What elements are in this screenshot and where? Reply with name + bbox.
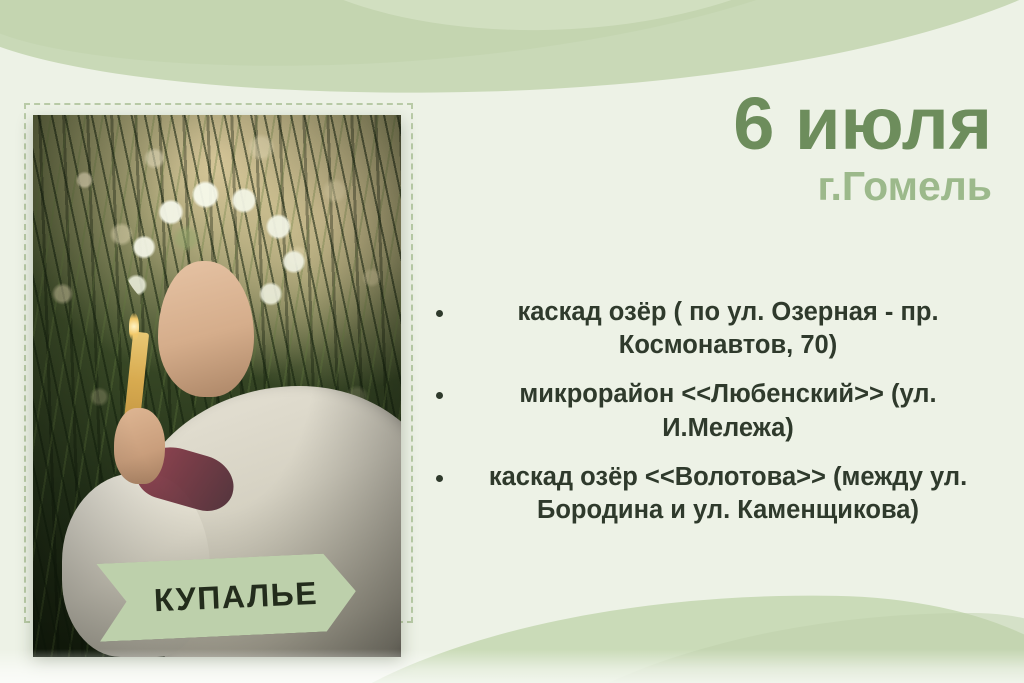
location-text: каскад озёр <<Волотова>> (между ул. Боро… bbox=[489, 463, 967, 524]
list-item: микрорайон <<Любенский>> (ул. И.Мележа) bbox=[430, 378, 1006, 444]
poster-canvas: КУПАЛЬЕ 6 июля г.Гомель каскад озёр ( по… bbox=[0, 0, 1024, 683]
list-item: каскад озёр <<Волотова>> (между ул. Боро… bbox=[430, 461, 1006, 527]
bullet-dot-icon bbox=[436, 392, 443, 399]
location-text: микрорайон <<Любенский>> (ул. И.Мележа) bbox=[519, 380, 936, 441]
kupalle-ribbon-banner: КУПАЛЬЕ bbox=[96, 552, 357, 642]
location-text: каскад озёр ( по ул. Озерная - пр. Космо… bbox=[517, 298, 938, 359]
event-city-subheading: г.Гомель bbox=[430, 165, 1006, 208]
locations-list: каскад озёр ( по ул. Озерная - пр. Космо… bbox=[430, 296, 1006, 527]
ribbon-label: КУПАЛЬЕ bbox=[135, 574, 319, 619]
list-item: каскад озёр ( по ул. Озерная - пр. Космо… bbox=[430, 296, 1006, 362]
bullet-dot-icon bbox=[436, 475, 443, 482]
content-column: 6 июля г.Гомель каскад озёр ( по ул. Озе… bbox=[430, 88, 1006, 543]
bullet-dot-icon bbox=[436, 310, 443, 317]
event-date-heading: 6 июля bbox=[430, 88, 1006, 159]
